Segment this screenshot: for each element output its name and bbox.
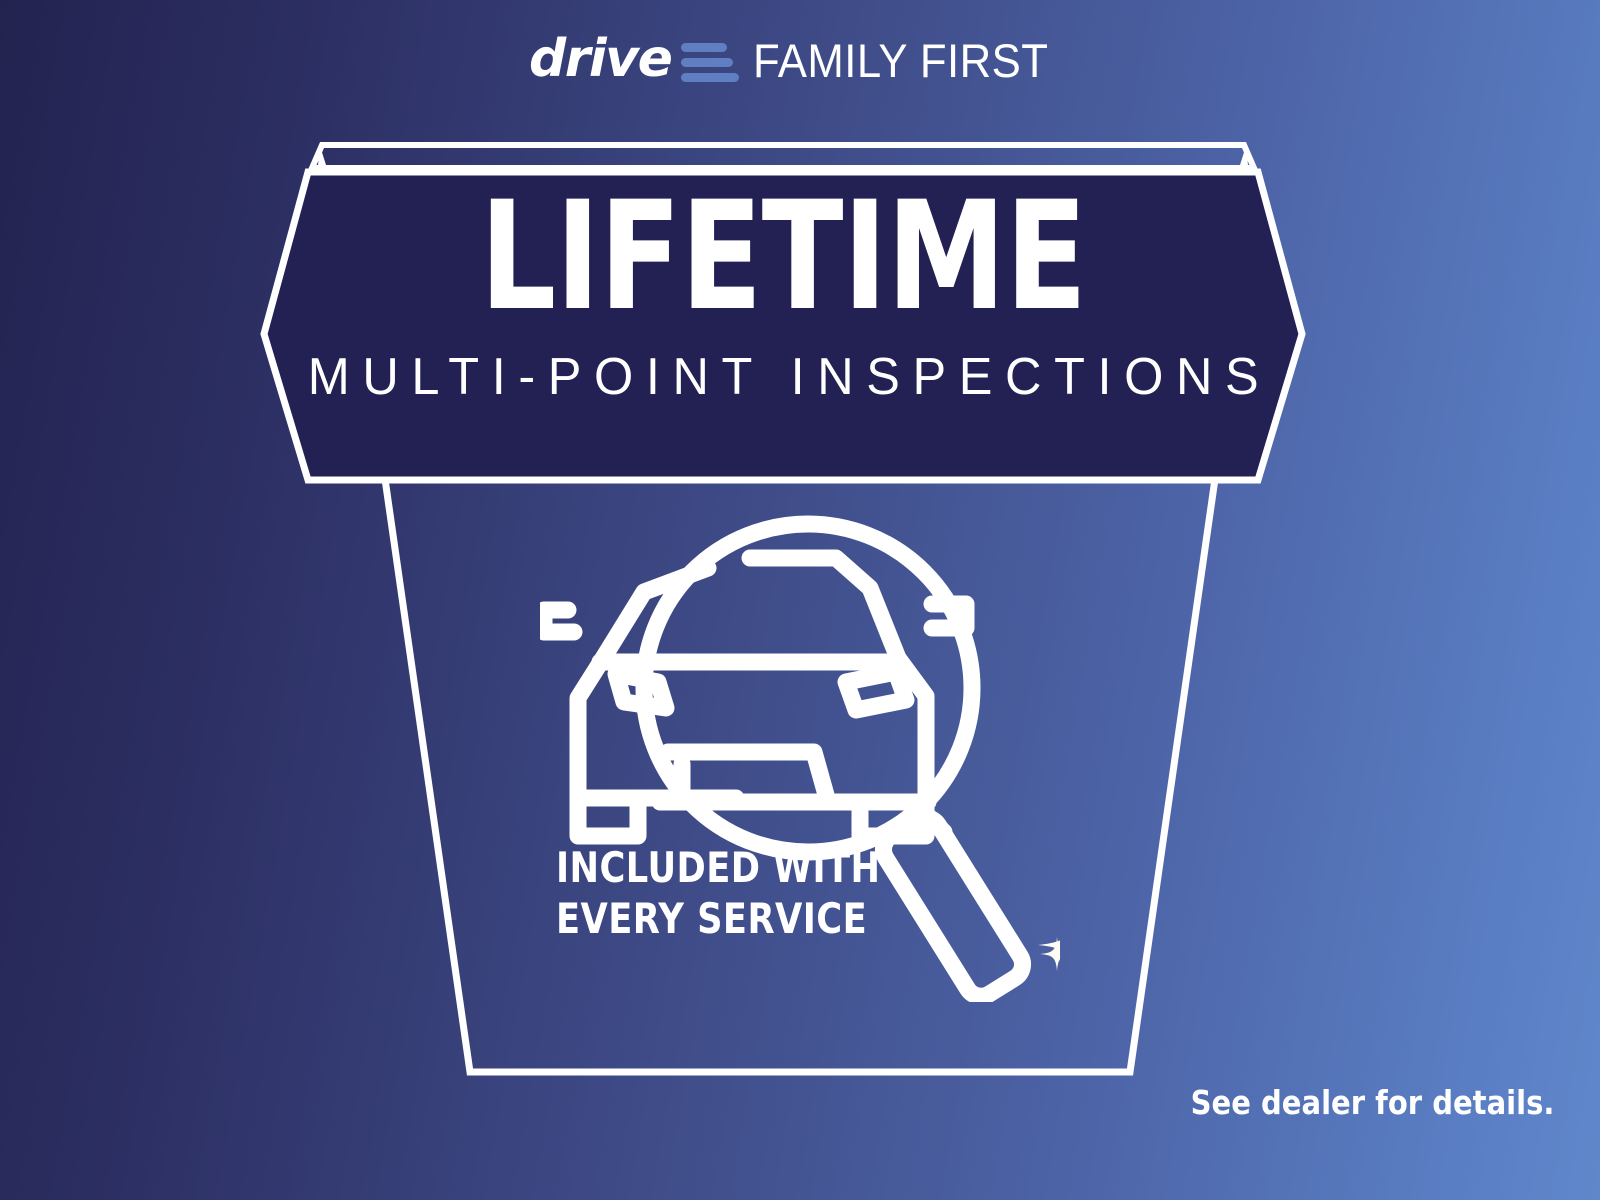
brand-wordmark: drive: [529, 33, 671, 85]
sparkle-icon: [1038, 862, 1060, 985]
badge-body-copy: INCLUDED WITH EVERY SERVICE: [556, 842, 909, 944]
ribbon-shadow-outline: [312, 145, 1254, 168]
badge-body-line-2: EVERY SERVICE: [556, 893, 909, 944]
promo-graphic: drive FAMILY FIRST LIFETIME MULTI-POINT …: [0, 0, 1600, 1200]
brand-tagline: FAMILY FIRST: [753, 37, 1048, 84]
front-car-glyph: [660, 558, 966, 836]
ribbon-banner: [258, 132, 1308, 502]
badge-body-line-1: INCLUDED WITH: [556, 842, 909, 893]
bar-bottom: [681, 73, 739, 82]
disclaimer-text: See dealer for details.: [1190, 1083, 1554, 1122]
bar-middle: [681, 58, 733, 67]
three-bars-icon: [681, 43, 739, 82]
ribbon-shape: [264, 172, 1302, 480]
bar-top: [681, 43, 727, 52]
sparkle-small: [1040, 937, 1060, 971]
brand-logo: drive FAMILY FIRST: [0, 28, 1600, 92]
